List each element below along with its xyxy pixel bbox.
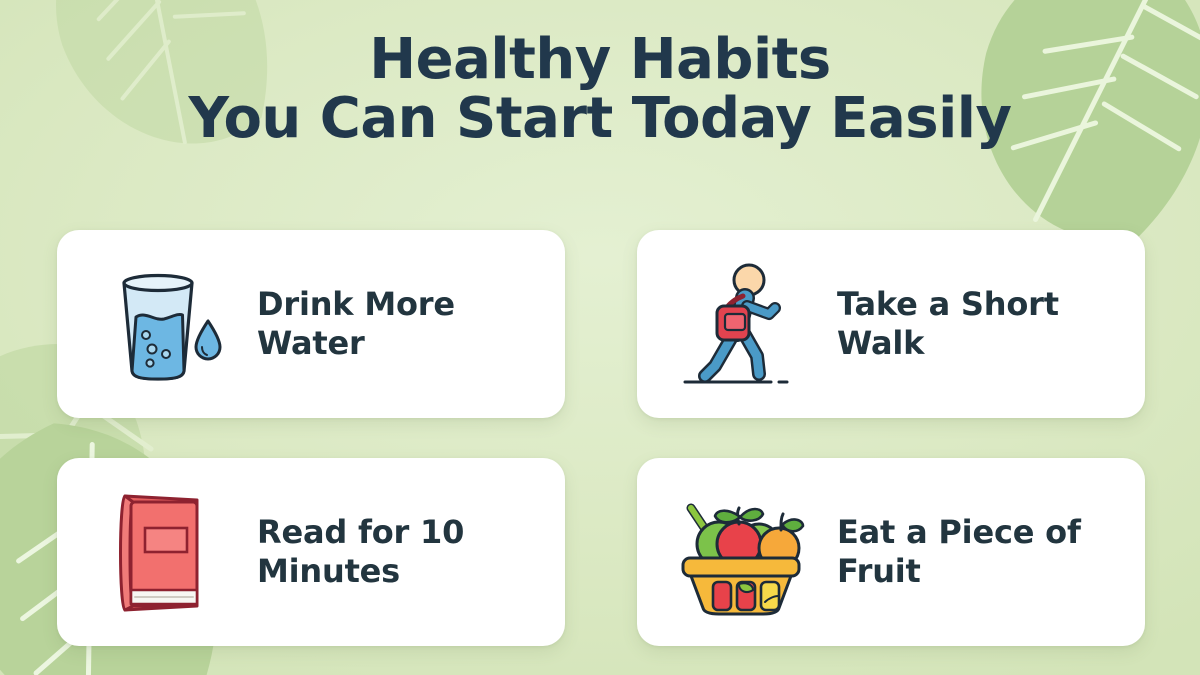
habit-card-take-a-short-walk[interactable]: Take a Short Walk [637, 230, 1145, 418]
book-icon [91, 482, 231, 622]
page-title: Healthy Habits You Can Start Today Easil… [0, 30, 1200, 149]
title-line-1: Healthy Habits [0, 30, 1200, 89]
walking-person-icon [671, 254, 811, 394]
water-glass-icon [91, 254, 231, 394]
poster-canvas: Healthy Habits You Can Start Today Easil… [0, 0, 1200, 675]
fruit-basket-icon [671, 482, 811, 622]
habit-card-label: Take a Short Walk [837, 285, 1117, 363]
habit-card-grid: Drink More Water [57, 230, 1145, 646]
habit-card-label: Drink More Water [257, 285, 537, 363]
habit-card-label: Eat a Piece of Fruit [837, 513, 1117, 591]
title-line-2: You Can Start Today Easily [0, 89, 1200, 148]
habit-card-read-for-10-minutes[interactable]: Read for 10 Minutes [57, 458, 565, 646]
habit-card-eat-a-piece-of-fruit[interactable]: Eat a Piece of Fruit [637, 458, 1145, 646]
habit-card-drink-more-water[interactable]: Drink More Water [57, 230, 565, 418]
habit-card-label: Read for 10 Minutes [257, 513, 537, 591]
